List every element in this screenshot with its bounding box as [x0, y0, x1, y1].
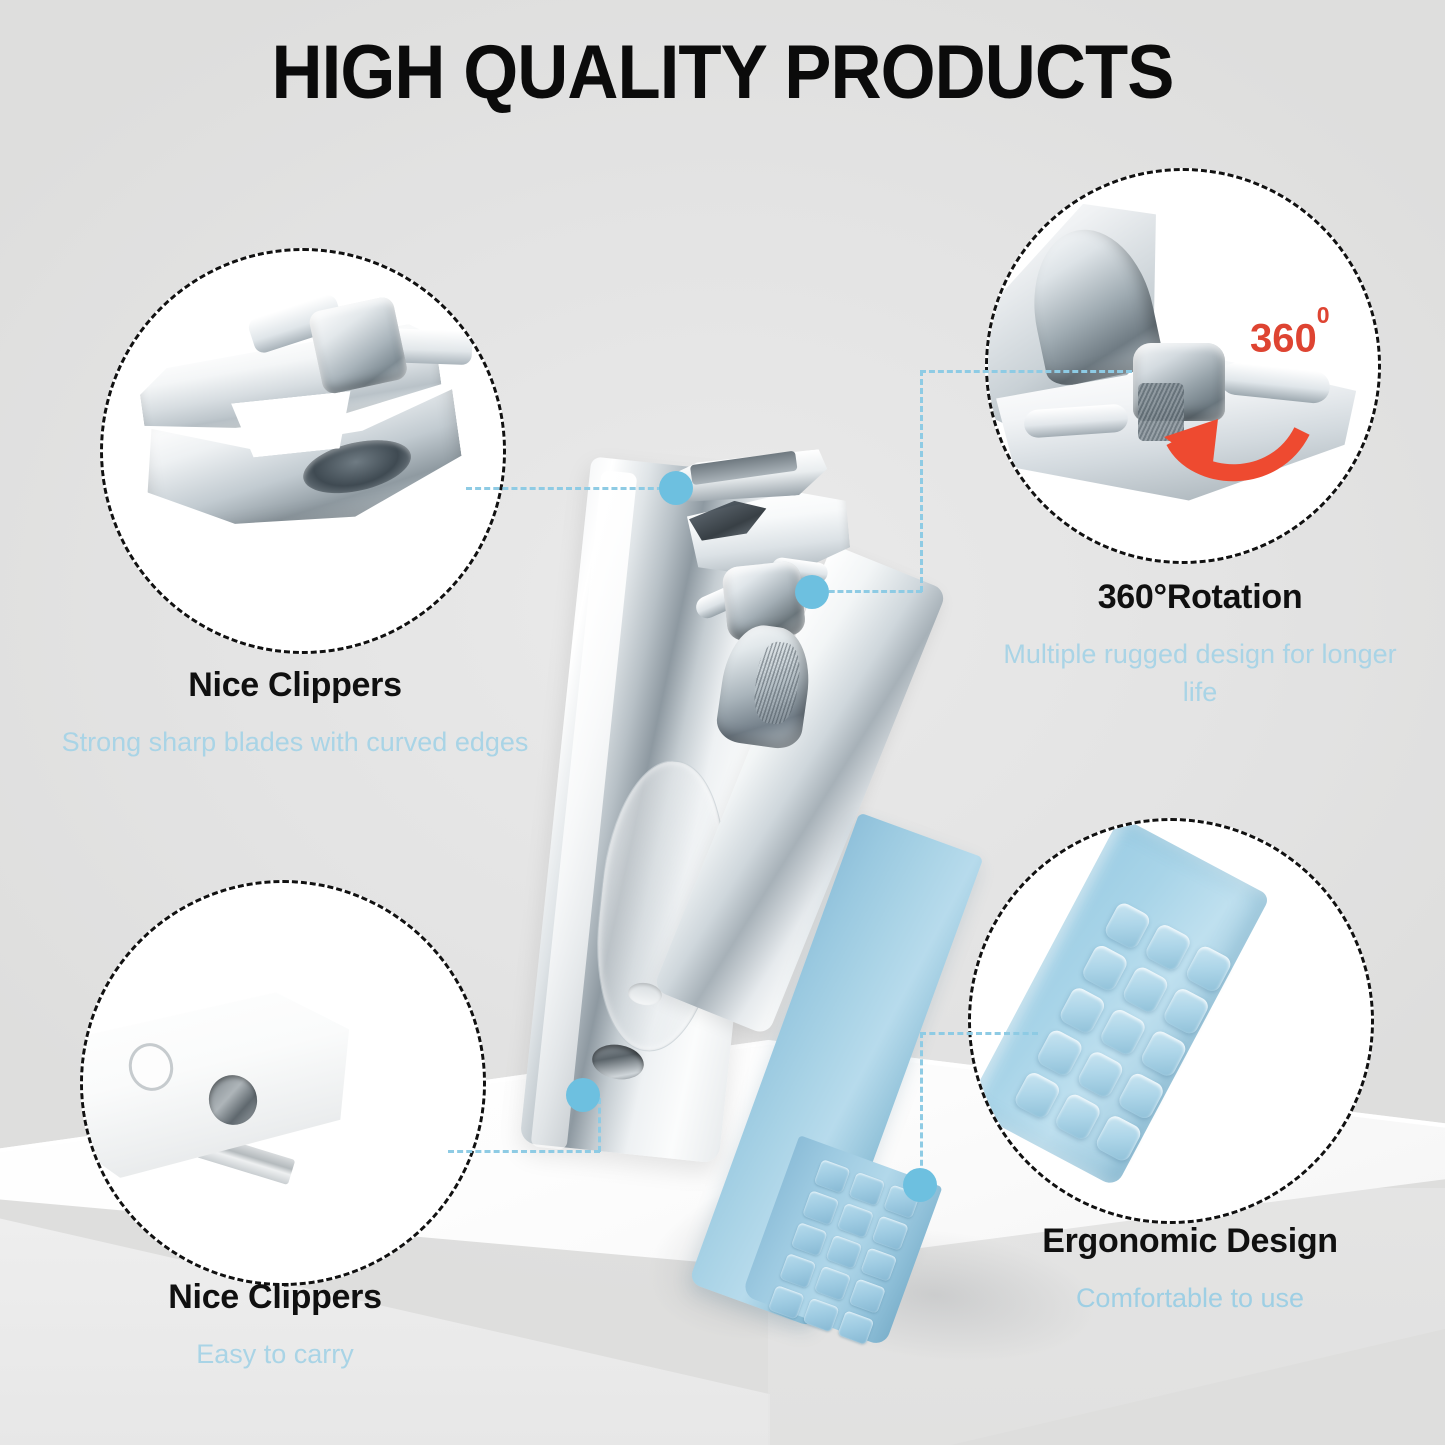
product-nail-clipper — [470, 430, 990, 1340]
flat-file-closeup-icon — [83, 883, 483, 1283]
infographic-canvas: HIGH QUALITY PRODUCTS — [0, 0, 1445, 1445]
clipper-head-closeup-icon — [103, 251, 503, 651]
textured-grip-closeup-icon — [971, 821, 1371, 1221]
caption-nice-clippers-bottom: Nice Clippers Easy to carry — [20, 1278, 530, 1373]
hotspot-dot-pivot — [795, 575, 829, 609]
caption-subtext: Strong sharp blades with curved edges — [40, 723, 550, 761]
caption-subtext: Multiple rugged design for longer life — [1000, 635, 1400, 711]
badge-360-value: 360 — [1250, 316, 1317, 360]
rotating-pivot-closeup-icon: 3600 — [988, 171, 1378, 561]
connector-line-pivot-bottom — [820, 590, 922, 593]
badge-360: 3600 — [1250, 316, 1330, 361]
hotspot-dot-grip — [903, 1168, 937, 1202]
callout-circle-ergonomic — [968, 818, 1374, 1224]
connector-line-base-vertical — [598, 1098, 601, 1152]
callout-circle-rotation: 3600 — [985, 168, 1381, 564]
connector-line-grip-top — [920, 1032, 1038, 1035]
page-title: HIGH QUALITY PRODUCTS — [51, 30, 1395, 116]
rotation-arrow-icon — [1156, 379, 1316, 499]
caption-subtext: Comfortable to use — [960, 1279, 1420, 1317]
connector-line-grip-vertical — [920, 1032, 923, 1184]
caption-heading: Nice Clippers — [20, 1278, 530, 1317]
connector-line-pivot-vertical — [920, 370, 923, 592]
caption-ergonomic: Ergonomic Design Comfortable to use — [960, 1222, 1420, 1317]
caption-rotation: 360°Rotation Multiple rugged design for … — [1000, 578, 1400, 711]
caption-heading: 360°Rotation — [1000, 578, 1400, 617]
hotspot-dot-blade — [659, 471, 693, 505]
connector-line-pivot-top — [920, 370, 1132, 373]
callout-circle-nice-clippers-top — [100, 248, 506, 654]
connector-line-base-bottom — [448, 1150, 600, 1153]
caption-nice-clippers-top: Nice Clippers Strong sharp blades with c… — [40, 666, 550, 761]
badge-360-unit: 0 — [1317, 302, 1330, 328]
caption-heading: Ergonomic Design — [960, 1222, 1420, 1261]
caption-subtext: Easy to carry — [20, 1335, 530, 1373]
caption-heading: Nice Clippers — [40, 666, 550, 705]
connector-line-blade — [466, 487, 672, 490]
hotspot-dot-base — [566, 1078, 600, 1112]
callout-circle-nice-clippers-bottom — [80, 880, 486, 1286]
